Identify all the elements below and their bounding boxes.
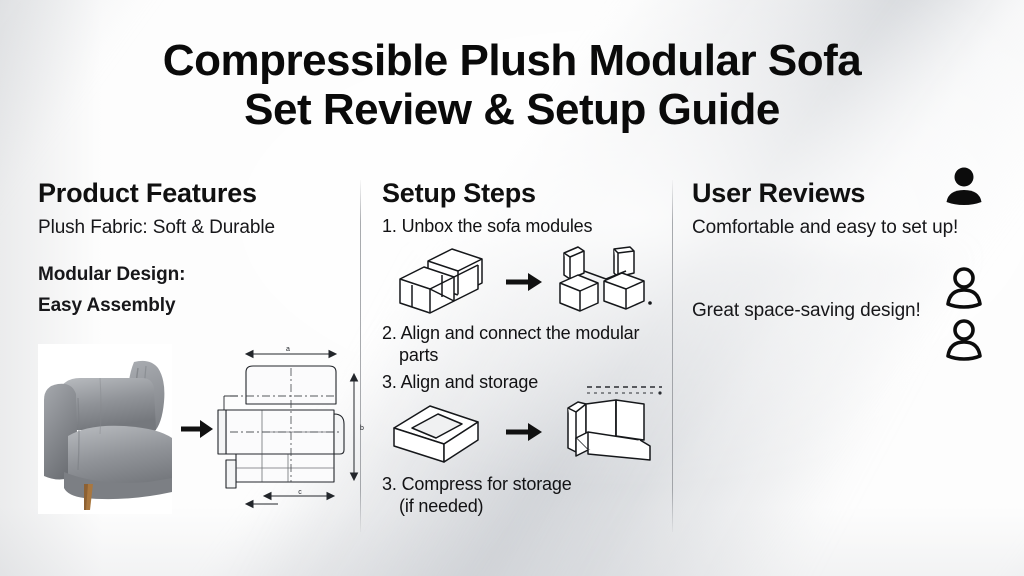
user-avatar-icon-filled bbox=[942, 166, 986, 208]
setup-step-2: 2. Align and connect the modular bbox=[382, 323, 664, 345]
column-divider-right bbox=[672, 180, 673, 532]
product-features-heading: Product Features bbox=[38, 178, 348, 209]
step-3-dashed-guide bbox=[586, 384, 664, 394]
review-text-1: Comfortable and easy to set up! bbox=[692, 216, 1012, 241]
page-title: Compressible Plush Modular Sofa Set Revi… bbox=[0, 36, 1024, 135]
column-product-features: Product Features Plush Fabric: Soft & Du… bbox=[38, 178, 348, 317]
setup-diagram-compress bbox=[382, 398, 664, 470]
dimension-label-b: b bbox=[360, 425, 364, 432]
sofa-cover-dimension-diagram: a b c bbox=[216, 344, 366, 514]
setup-step-3-continued: (if needed) bbox=[382, 496, 664, 518]
review-item-1: Comfortable and easy to set up! bbox=[692, 216, 1012, 262]
dimension-label-a: a bbox=[286, 346, 290, 353]
feature-easy-assembly: Easy Assembly bbox=[38, 294, 348, 318]
content-columns: Product Features Plush Fabric: Soft & Du… bbox=[0, 178, 1024, 538]
setup-arrow-1 bbox=[506, 273, 542, 291]
setup-arrow-2 bbox=[506, 423, 542, 441]
poster-canvas: Compressible Plush Modular Sofa Set Revi… bbox=[0, 0, 1024, 576]
user-avatar-icon-outline-1 bbox=[942, 266, 986, 310]
page-title-line-2: Set Review & Setup Guide bbox=[0, 85, 1024, 134]
setup-diagram-modules bbox=[382, 245, 664, 319]
column-setup-steps: Setup Steps 1. Unbox the sofa modules bbox=[382, 178, 664, 518]
setup-step-1: 1. Unbox the sofa modules bbox=[382, 216, 664, 238]
features-media-group: a b c bbox=[38, 344, 358, 524]
user-avatar-icon-outline-2 bbox=[942, 318, 986, 362]
features-arrow-icon bbox=[180, 416, 214, 442]
feature-plush-fabric: Plush Fabric: Soft & Durable bbox=[38, 216, 348, 240]
setup-step-3-compress: 3. Compress for storage bbox=[382, 474, 664, 496]
setup-steps-heading: Setup Steps bbox=[382, 178, 664, 209]
feature-modular-design: Modular Design: bbox=[38, 263, 348, 287]
setup-step-2-continued: parts bbox=[382, 345, 664, 367]
dimension-label-c: c bbox=[298, 489, 302, 496]
column-user-reviews: User Reviews Comfortable and easy to set… bbox=[692, 178, 1012, 345]
sofa-photo bbox=[38, 344, 172, 514]
page-title-line-1: Compressible Plush Modular Sofa bbox=[163, 36, 861, 85]
